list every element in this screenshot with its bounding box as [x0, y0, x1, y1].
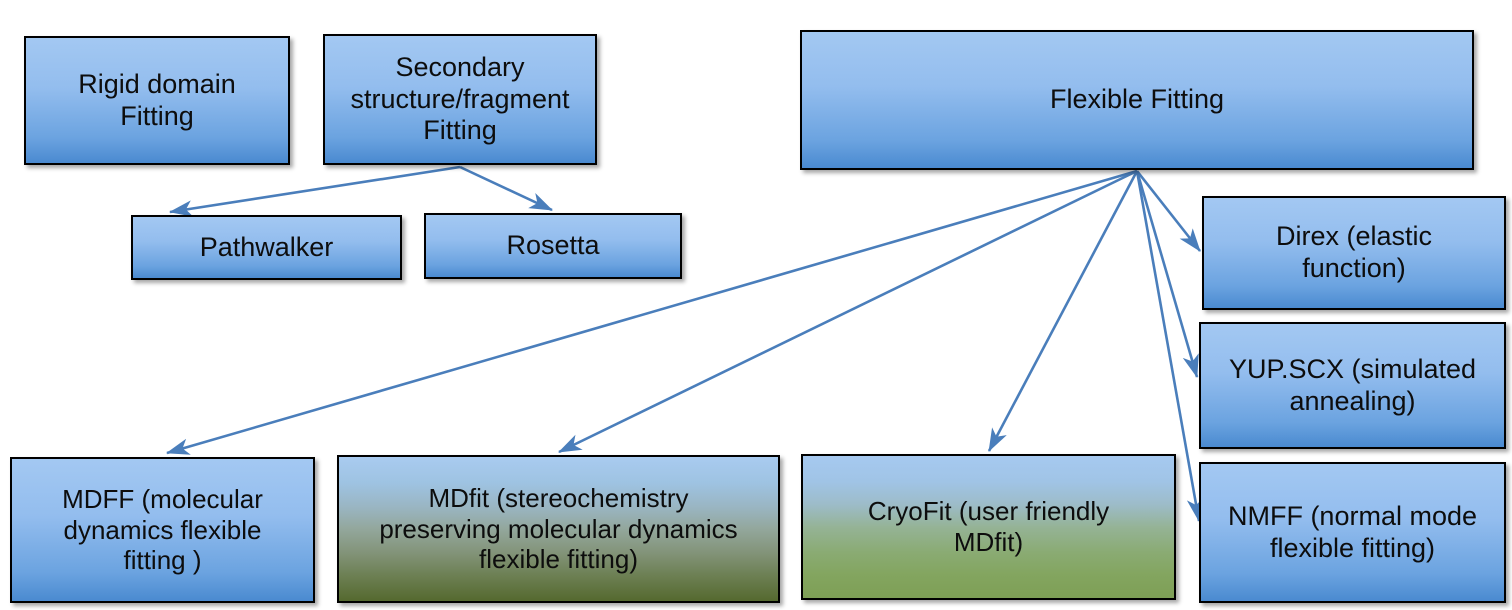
node-yup-scx[interactable]: YUP.SCX (simulated annealing)	[1199, 322, 1506, 449]
node-flexible-fitting[interactable]: Flexible Fitting	[800, 30, 1474, 170]
node-secondary-structure-fragment-fitting[interactable]: Secondary structure/fragment Fitting	[323, 34, 597, 165]
edge-flexible-to-cryofit	[989, 171, 1137, 451]
edge-flexible-to-yupscx	[1137, 171, 1197, 377]
node-label: Direx (elastic function)	[1212, 221, 1496, 285]
node-cryofit[interactable]: CryoFit (user friendly MDfit)	[801, 454, 1176, 600]
node-mdff[interactable]: MDFF (molecular dynamics flexible fittin…	[10, 457, 315, 603]
node-label: CryoFit (user friendly MDfit)	[811, 496, 1166, 557]
edge-secondary-to-pathwalker	[170, 167, 460, 212]
node-direx[interactable]: Direx (elastic function)	[1202, 196, 1506, 310]
node-pathwalker[interactable]: Pathwalker	[131, 215, 402, 280]
node-label: YUP.SCX (simulated annealing)	[1209, 354, 1496, 418]
node-label: Secondary structure/fragment Fitting	[333, 52, 587, 148]
node-label: MDfit (stereochemistry preserving molecu…	[347, 483, 770, 575]
edge-flexible-to-direx	[1137, 171, 1200, 251]
node-rosetta[interactable]: Rosetta	[424, 213, 682, 279]
node-mdfit[interactable]: MDfit (stereochemistry preserving molecu…	[337, 455, 780, 603]
diagram-canvas: Rigid domain Fitting Secondary structure…	[0, 0, 1512, 610]
node-label: Rosetta	[434, 230, 672, 262]
node-label: NMFF (normal mode flexible fitting)	[1209, 501, 1496, 565]
edge-secondary-to-rosetta	[460, 167, 552, 210]
node-label: Flexible Fitting	[810, 84, 1464, 116]
node-label: Rigid domain Fitting	[34, 69, 280, 133]
node-label: MDFF (molecular dynamics flexible fittin…	[20, 484, 305, 576]
node-nmff[interactable]: NMFF (normal mode flexible fitting)	[1199, 462, 1506, 603]
node-rigid-domain-fitting[interactable]: Rigid domain Fitting	[24, 36, 290, 165]
node-label: Pathwalker	[141, 232, 392, 264]
